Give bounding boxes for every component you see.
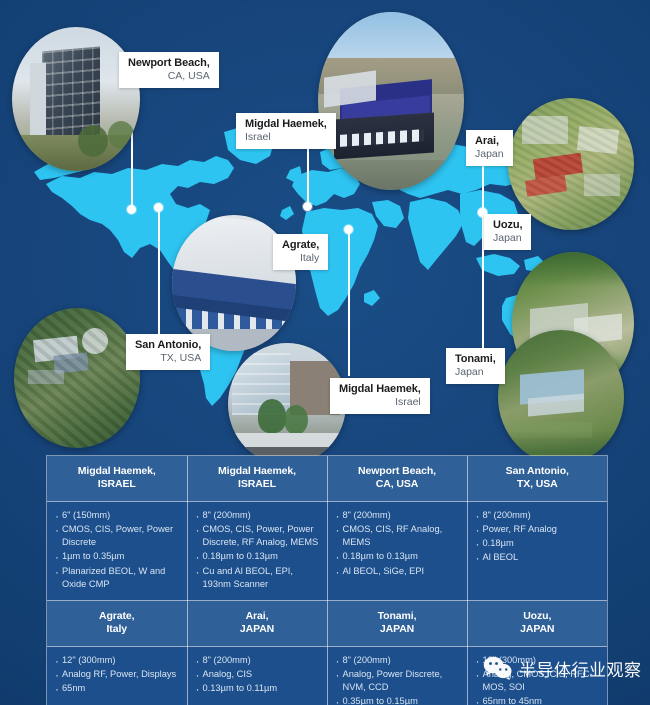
spec-item: CMOS, CIS, Power, Power Discrete bbox=[54, 523, 181, 549]
table-cell: 6" (150mm) CMOS, CIS, Power, Power Discr… bbox=[47, 501, 187, 600]
header-line-1: Migdal Haemek, bbox=[218, 465, 296, 477]
spec-item: 65nm to 45nm bbox=[475, 695, 602, 705]
spec-item: 1µm to 0.35µm bbox=[54, 550, 181, 563]
header-line-1: Migdal Haemek, bbox=[78, 465, 156, 477]
table-header-cell: Arai, JAPAN bbox=[187, 601, 327, 647]
spec-item: 0.18µm to 0.13µm bbox=[195, 550, 321, 563]
callout-subtitle: Italy bbox=[282, 252, 319, 265]
table-cell: 8" (200mm) Analog, CIS 0.13µm to 0.11µm bbox=[187, 646, 327, 705]
connector-migdal-haemek-bottom bbox=[348, 282, 350, 376]
table-header-row-2: Agrate, Italy Arai, JAPAN Tonami, JAPAN … bbox=[47, 601, 607, 647]
callout-newport-beach[interactable]: Newport Beach, CA, USA bbox=[119, 52, 219, 88]
table-header-cell: Migdal Haemek, ISRAEL bbox=[47, 456, 187, 501]
spec-item: Analog, CIS bbox=[195, 668, 321, 681]
table-header-cell: Migdal Haemek, ISRAEL bbox=[187, 456, 327, 501]
callout-subtitle: Israel bbox=[245, 131, 327, 144]
callout-subtitle: CA, USA bbox=[128, 70, 210, 83]
spec-list: 8" (200mm) Analog, CIS 0.13µm to 0.11µm bbox=[195, 654, 321, 696]
spec-item: 0.35µm to 0.15µm bbox=[335, 695, 461, 705]
callout-subtitle: Japan bbox=[455, 366, 496, 379]
map-dot-san-antonio bbox=[154, 203, 163, 212]
table-cell: 8" (200mm) Power, RF Analog 0.18µm Al BE… bbox=[467, 501, 607, 600]
callout-name: Tonami, bbox=[455, 353, 496, 366]
spec-item: 12" (300mm) bbox=[54, 654, 181, 667]
callout-name: Arai, bbox=[475, 135, 504, 148]
photo-san-antonio[interactable] bbox=[14, 308, 140, 448]
callout-name: Migdal Haemek, bbox=[339, 383, 421, 396]
site-spec-table: Migdal Haemek, ISRAEL Migdal Haemek, ISR… bbox=[46, 455, 608, 705]
table-header-cell: Agrate, Italy bbox=[47, 601, 187, 647]
spec-list: 12" (300mm) Analog RF, Power, Displays 6… bbox=[54, 654, 181, 696]
spec-item: Al BEOL, SiGe, EPI bbox=[335, 565, 461, 578]
spec-item: 8" (200mm) bbox=[335, 654, 461, 667]
spec-item: 12" (300mm) bbox=[475, 654, 602, 667]
spec-item: Planarized BEOL, W and Oxide CMP bbox=[54, 565, 181, 591]
table-cell: 8" (200mm) CMOS, CIS, RF Analog, MEMS 0.… bbox=[327, 501, 467, 600]
spec-item: Analog RF, Power, Displays bbox=[54, 668, 181, 681]
header-line-2: CA, USA bbox=[376, 478, 418, 490]
spec-item: 0.13µm to 0.11µm bbox=[195, 682, 321, 695]
spec-list: 8" (200mm) Analog, Power Discrete, NVM, … bbox=[335, 654, 461, 705]
header-line-2: ISRAEL bbox=[98, 478, 136, 490]
spec-item: 8" (200mm) bbox=[195, 509, 321, 522]
spec-item: Power, RF Analog bbox=[475, 523, 602, 536]
spec-list: 6" (150mm) CMOS, CIS, Power, Power Discr… bbox=[54, 509, 181, 591]
photo-migdal-haemek-campus[interactable] bbox=[228, 343, 346, 465]
callout-name: Newport Beach, bbox=[128, 57, 210, 70]
callout-subtitle: TX, USA bbox=[135, 352, 201, 365]
spec-item: 0.18µm bbox=[475, 537, 602, 550]
connector-tonami bbox=[482, 240, 484, 352]
spec-list: 8" (200mm) CMOS, CIS, RF Analog, MEMS 0.… bbox=[335, 509, 461, 578]
spec-list: 12" (300mm) Analog, CMOS, CIS, RFC-MOS, … bbox=[475, 654, 602, 705]
map-dot-agrate bbox=[344, 225, 353, 234]
map-dot-newport-beach bbox=[127, 205, 136, 214]
header-line-1: San Antonio, bbox=[506, 465, 569, 477]
spec-item: Analog, Power Discrete, NVM, CCD bbox=[335, 668, 461, 694]
table-body-row-2: 12" (300mm) Analog RF, Power, Displays 6… bbox=[47, 646, 607, 705]
callout-name: San Antonio, bbox=[135, 339, 201, 352]
spec-item: Cu and Al BEOL, EPI, 193nm Scanner bbox=[195, 565, 321, 591]
callout-subtitle: Japan bbox=[475, 148, 504, 161]
table-cell: 8" (200mm) CMOS, CIS, Power, Power Discr… bbox=[187, 501, 327, 600]
callout-arai[interactable]: Arai, Japan bbox=[466, 130, 513, 166]
spec-item: Al BEOL bbox=[475, 551, 602, 564]
callout-name: Uozu, bbox=[493, 219, 522, 232]
connector-agrate bbox=[348, 230, 350, 282]
photo-migdal-haemek-fab[interactable] bbox=[318, 12, 464, 190]
header-line-2: JAPAN bbox=[380, 623, 414, 635]
spec-list: 8" (200mm) Power, RF Analog 0.18µm Al BE… bbox=[475, 509, 602, 565]
table-header-row-1: Migdal Haemek, ISRAEL Migdal Haemek, ISR… bbox=[47, 456, 607, 501]
header-line-2: JAPAN bbox=[240, 623, 274, 635]
callout-tonami[interactable]: Tonami, Japan bbox=[446, 348, 505, 384]
spec-item: 8" (200mm) bbox=[475, 509, 602, 522]
callout-subtitle: Japan bbox=[493, 232, 522, 245]
header-line-2: TX, USA bbox=[517, 478, 558, 490]
header-line-2: Italy bbox=[106, 623, 127, 635]
photo-tonami[interactable] bbox=[498, 330, 624, 464]
connector-migdal-haemek-top bbox=[307, 140, 309, 206]
spec-list: 8" (200mm) CMOS, CIS, Power, Power Discr… bbox=[195, 509, 321, 591]
header-line-1: Arai, bbox=[246, 610, 269, 622]
callout-uozu[interactable]: Uozu, Japan bbox=[484, 214, 531, 250]
world-map-section: Newport Beach, CA, USA Migdal Haemek, Is… bbox=[0, 0, 650, 452]
connector-arai bbox=[482, 162, 484, 214]
table-header-cell: Uozu, JAPAN bbox=[467, 601, 607, 647]
callout-migdal-haemek-bottom[interactable]: Migdal Haemek, Israel bbox=[330, 378, 430, 414]
spec-item: 0.18µm to 0.13µm bbox=[335, 550, 461, 563]
spec-item: 65nm bbox=[54, 682, 181, 695]
table-header-cell: San Antonio, TX, USA bbox=[467, 456, 607, 501]
callout-agrate[interactable]: Agrate, Italy bbox=[273, 234, 328, 270]
table-cell: 12" (300mm) Analog, CMOS, CIS, RFC-MOS, … bbox=[467, 646, 607, 705]
spec-item: 8" (200mm) bbox=[335, 509, 461, 522]
table-cell: 12" (300mm) Analog RF, Power, Displays 6… bbox=[47, 646, 187, 705]
header-line-1: Agrate, bbox=[99, 610, 134, 622]
connector-san-antonio bbox=[158, 205, 160, 350]
table-header-cell: Newport Beach, CA, USA bbox=[327, 456, 467, 501]
header-line-1: Newport Beach, bbox=[358, 465, 436, 477]
spec-item: Analog, CMOS, CIS, RFC-MOS, SOI bbox=[475, 668, 602, 694]
header-line-1: Uozu, bbox=[523, 610, 551, 622]
table-header-cell: Tonami, JAPAN bbox=[327, 601, 467, 647]
table-body-row-1: 6" (150mm) CMOS, CIS, Power, Power Discr… bbox=[47, 501, 607, 600]
callout-subtitle: Israel bbox=[339, 396, 421, 409]
callout-migdal-haemek-top[interactable]: Migdal Haemek, Israel bbox=[236, 113, 336, 149]
spec-item: 6" (150mm) bbox=[54, 509, 181, 522]
photo-newport-beach[interactable] bbox=[12, 27, 140, 171]
callout-name: Migdal Haemek, bbox=[245, 118, 327, 131]
map-dot-migdal-haemek-top bbox=[303, 202, 312, 211]
photo-arai[interactable] bbox=[508, 98, 634, 230]
spec-item: CMOS, CIS, Power, Power Discrete, RF Ana… bbox=[195, 523, 321, 549]
callout-san-antonio[interactable]: San Antonio, TX, USA bbox=[126, 334, 210, 370]
table-cell: 8" (200mm) Analog, Power Discrete, NVM, … bbox=[327, 646, 467, 705]
header-line-2: JAPAN bbox=[520, 623, 554, 635]
spec-item: 8" (200mm) bbox=[195, 654, 321, 667]
spec-item: CMOS, CIS, RF Analog, MEMS bbox=[335, 523, 461, 549]
callout-name: Agrate, bbox=[282, 239, 319, 252]
header-line-1: Tonami, bbox=[378, 610, 417, 622]
header-line-2: ISRAEL bbox=[238, 478, 276, 490]
